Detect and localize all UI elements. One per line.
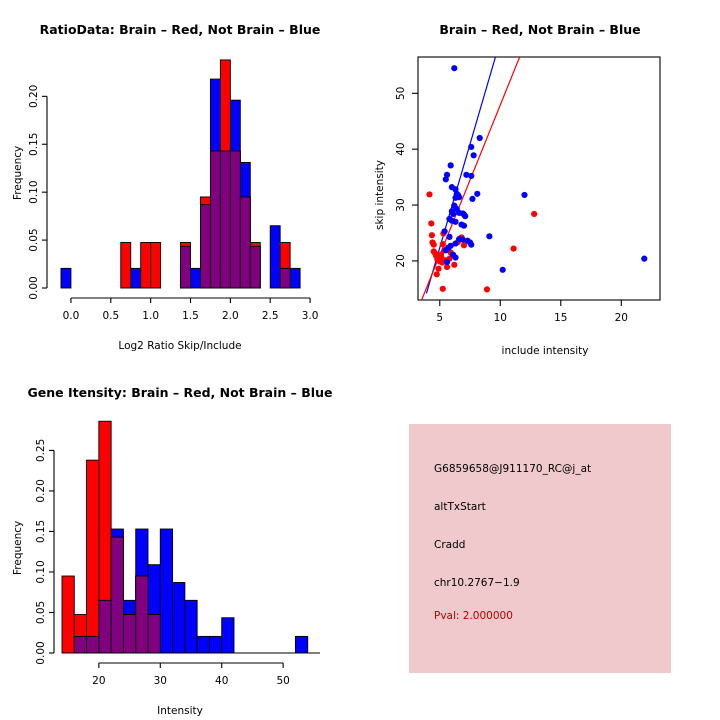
bar-overlap	[240, 197, 250, 288]
ratio-histogram-xlabel: Log2 Ratio Skip/Include	[60, 340, 300, 352]
point-not-brain	[443, 176, 449, 182]
x-tick-label: 5	[436, 312, 443, 324]
bar-brain	[151, 242, 161, 288]
point-not-brain	[444, 259, 450, 265]
x-tick-label: 2.5	[262, 310, 279, 322]
info-locus: chr10.2767−1.9	[434, 577, 520, 589]
bar-brain	[141, 242, 151, 288]
x-tick-label: 20	[92, 675, 105, 687]
y-tick-label: 0.15	[28, 133, 40, 156]
point-brain	[451, 262, 457, 268]
gene-histogram-xlabel: Intensity	[60, 705, 300, 717]
scatter-plot-area: 203040505101520	[360, 0, 720, 335]
bar-overlap	[181, 246, 191, 288]
point-not-brain	[641, 256, 647, 262]
y-tick-label: 20	[395, 254, 407, 267]
x-tick-label: 20	[615, 312, 628, 324]
bar-brain	[121, 242, 131, 288]
panel-ratio-histogram: RatioData: Brain – Red, Not Brain – Blue…	[0, 0, 360, 360]
info-panel-box: G6859658@J911170_RC@j_at altTxStart Crad…	[409, 424, 671, 673]
bar-overlap	[111, 537, 123, 653]
point-brain	[428, 220, 434, 226]
point-not-brain	[446, 234, 452, 240]
info-pval: Pval: 2.000000	[434, 610, 513, 622]
y-tick-label: 0.05	[28, 228, 40, 251]
point-brain	[434, 271, 440, 277]
bar-not-brain	[270, 226, 280, 288]
info-event-type: altTxStart	[434, 501, 486, 513]
bar-overlap	[220, 151, 230, 288]
x-tick-label: 3.0	[302, 310, 319, 322]
bar-not-brain	[61, 268, 71, 288]
panel-gene-intensity-histogram: Gene Itensity: Brain – Red, Not Brain – …	[0, 360, 360, 720]
y-tick-label: 0.20	[28, 85, 40, 108]
point-not-brain	[450, 211, 456, 217]
point-brain	[484, 286, 490, 292]
point-brain	[429, 232, 435, 238]
x-tick-label: 0.0	[63, 310, 80, 322]
bar-overlap	[148, 615, 160, 653]
point-brain	[426, 191, 432, 197]
info-gene-symbol: Cradd	[434, 539, 465, 551]
y-tick-label: 50	[395, 87, 407, 100]
scatter-content	[422, 57, 648, 300]
info-probe-id: G6859658@J911170_RC@j_at	[434, 463, 591, 475]
point-not-brain	[500, 267, 506, 273]
y-tick-label: 0.10	[35, 560, 47, 583]
bar-not-brain	[290, 268, 300, 288]
bar-overlap	[200, 205, 210, 288]
bar-not-brain	[295, 636, 307, 653]
figure-canvas: RatioData: Brain – Red, Not Brain – Blue…	[0, 0, 720, 720]
point-not-brain	[471, 152, 477, 158]
scatter-xlabel: include intensity	[420, 345, 670, 357]
bar-overlap	[74, 636, 86, 653]
point-not-brain	[469, 196, 475, 202]
y-tick-label: 0.00	[28, 276, 40, 299]
bar-overlap	[136, 576, 148, 653]
bar-not-brain	[131, 268, 141, 288]
point-not-brain	[477, 135, 483, 141]
bar-not-brain	[197, 636, 209, 653]
point-not-brain	[474, 191, 480, 197]
point-brain	[440, 286, 446, 292]
x-tick-label: 30	[154, 675, 167, 687]
point-not-brain	[452, 219, 458, 225]
bar-not-brain	[191, 268, 201, 288]
bar-overlap	[123, 615, 135, 653]
bar-overlap	[87, 636, 99, 653]
point-not-brain	[452, 195, 458, 201]
point-brain	[531, 211, 537, 217]
y-tick-label: 0.00	[35, 641, 47, 664]
bar-overlap	[280, 268, 290, 288]
point-not-brain	[450, 252, 456, 258]
bar-not-brain	[185, 600, 197, 653]
point-brain	[431, 242, 437, 248]
point-not-brain	[468, 173, 474, 179]
point-brain	[510, 246, 516, 252]
y-tick-label: 0.25	[35, 439, 47, 462]
point-not-brain	[462, 213, 468, 219]
ratio-histogram-plot: 0.000.050.100.150.200.00.51.01.52.02.53.…	[0, 0, 360, 330]
bar-not-brain	[160, 529, 172, 653]
bar-overlap	[250, 246, 260, 288]
bar-not-brain	[209, 636, 221, 653]
point-not-brain	[443, 247, 449, 253]
point-not-brain	[461, 223, 467, 229]
point-not-brain	[468, 144, 474, 150]
gene-histogram-plot: 0.000.050.100.150.200.2520304050	[0, 360, 360, 700]
x-tick-label: 10	[494, 312, 507, 324]
point-not-brain	[442, 228, 448, 234]
bar-overlap	[210, 151, 220, 288]
y-tick-label: 0.05	[35, 601, 47, 624]
x-tick-label: 50	[276, 675, 289, 687]
x-tick-label: 0.5	[102, 310, 119, 322]
point-not-brain	[521, 192, 527, 198]
point-not-brain	[448, 162, 454, 168]
bar-brain	[62, 576, 74, 653]
x-tick-label: 1.5	[182, 310, 199, 322]
panel-info: G6859658@J911170_RC@j_at altTxStart Crad…	[360, 360, 720, 720]
panel-intensity-scatter: Brain – Red, Not Brain – Blue skip inten…	[360, 0, 720, 360]
x-tick-label: 15	[554, 312, 567, 324]
y-tick-label: 0.20	[35, 479, 47, 502]
bar-not-brain	[222, 618, 234, 653]
y-tick-label: 0.15	[35, 520, 47, 543]
y-tick-label: 40	[395, 142, 407, 155]
point-brain	[440, 241, 446, 247]
x-tick-label: 2.0	[222, 310, 239, 322]
bar-brain	[87, 460, 99, 653]
bar-overlap	[230, 151, 240, 288]
y-tick-label: 30	[395, 198, 407, 211]
x-tick-label: 1.0	[142, 310, 159, 322]
y-tick-label: 0.10	[28, 180, 40, 203]
bar-not-brain	[173, 583, 185, 654]
point-not-brain	[486, 233, 492, 239]
bar-overlap	[99, 600, 111, 653]
point-brain	[435, 266, 441, 272]
point-not-brain	[451, 65, 457, 71]
x-tick-label: 40	[215, 675, 228, 687]
point-not-brain	[468, 242, 474, 248]
